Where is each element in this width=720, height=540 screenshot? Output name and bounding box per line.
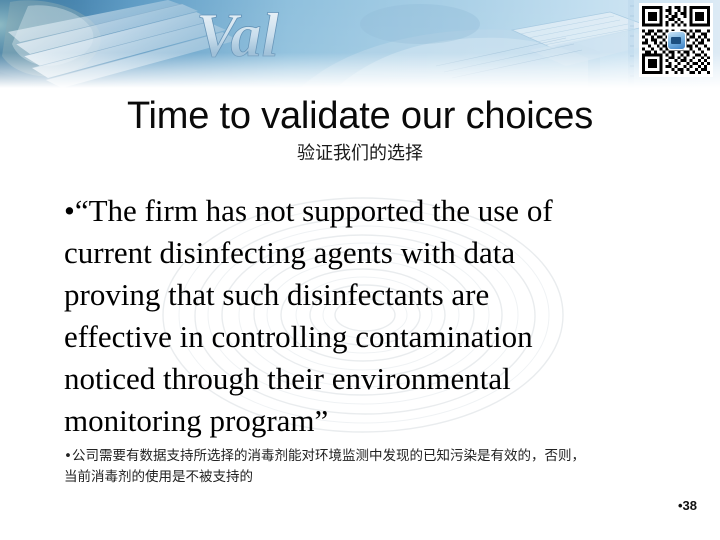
body-line: proving that such disinfectants are — [64, 274, 664, 316]
app-icon — [667, 31, 686, 50]
page-title: Time to validate our choices — [0, 94, 720, 138]
body-line: noticed through their environmental — [64, 358, 664, 400]
header-photo-banner: Val — [0, 0, 720, 88]
body-cn-line: •公司需要有数据支持所选择的消毒剂能对环境监测中发现的已知污染是有效的，否则， — [64, 446, 694, 467]
body-line: •“The firm has not supported the use of — [64, 190, 664, 232]
body-line: current disinfecting agents with data — [64, 232, 664, 274]
body-quote: •“The firm has not supported the use of … — [64, 190, 664, 442]
body-cn-line: 当前消毒剂的使用是不被支持的 — [64, 467, 694, 488]
body-translation-cn: •公司需要有数据支持所选择的消毒剂能对环境监测中发现的已知污染是有效的，否则， … — [64, 446, 694, 488]
presentation-slide: Val — [0, 0, 720, 540]
page-subtitle-cn: 验证我们的选择 — [0, 142, 720, 166]
body-line: effective in controlling contamination — [64, 316, 664, 358]
qr-code[interactable] — [639, 3, 713, 77]
page-number: •38 — [0, 498, 697, 513]
body-line: monitoring program” — [64, 400, 664, 442]
